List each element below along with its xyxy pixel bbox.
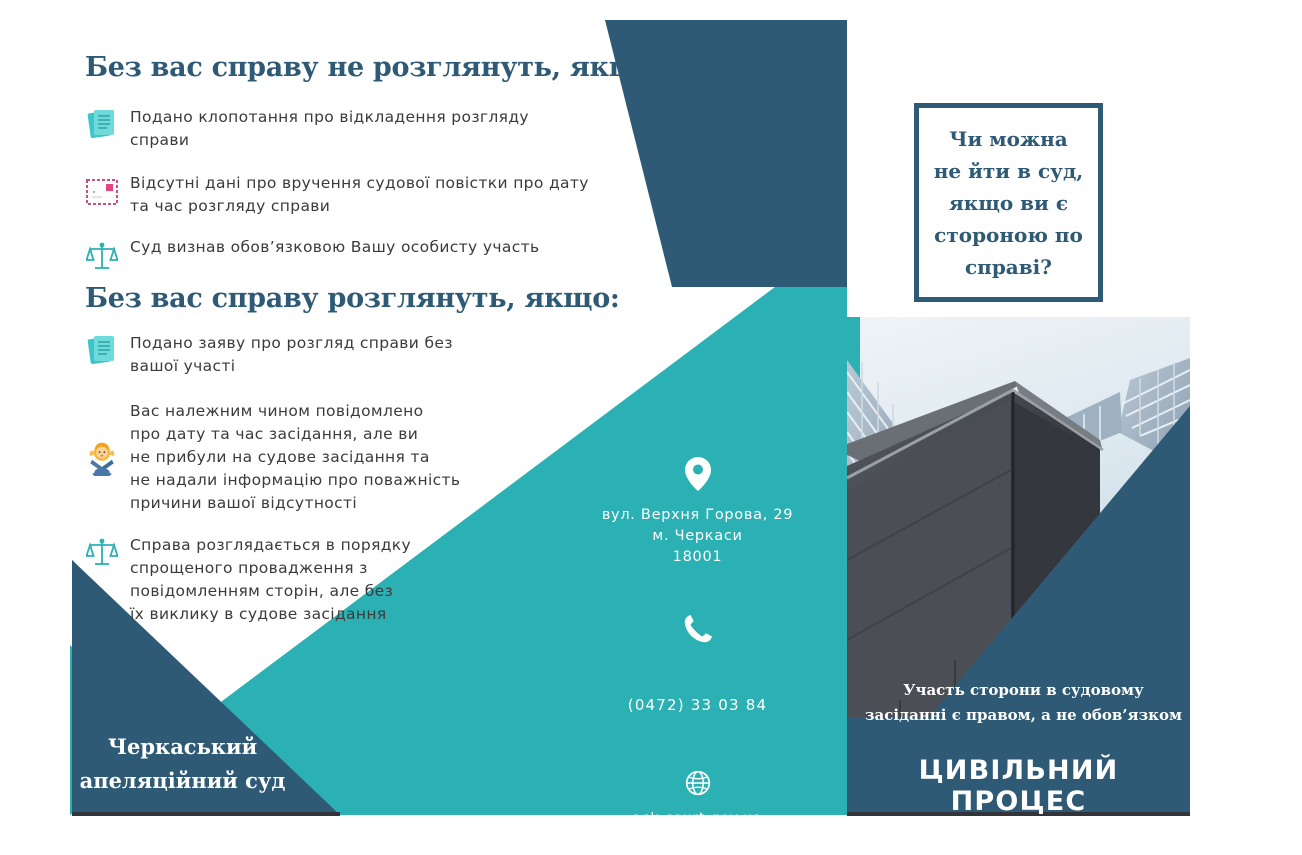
scales-icon <box>84 534 120 576</box>
question-box: Чи можна не йти в суд, якщо ви є стороно… <box>914 103 1103 302</box>
phone-number: (0472) 33 03 84 <box>575 696 820 714</box>
list-item: Суд визнав обов’язковою Вашу особисту уч… <box>84 236 539 276</box>
list-item-text: Справа розглядається в порядку спрощеног… <box>130 534 411 626</box>
list-item: Подано клопотання про відкладення розгля… <box>84 106 529 152</box>
envelope-icon <box>84 172 120 212</box>
address-line-1: вул. Верхня Горова, 29 <box>575 505 820 526</box>
person-gesturing-no-icon <box>84 438 120 478</box>
court-name-line-1: Черкаський <box>60 730 305 764</box>
left-panel: Без вас справу не розглянуть, якщо: Пода… <box>0 0 610 855</box>
list-item-text: Вас належним чином повідомлено про дату … <box>130 400 460 515</box>
tagline-line-1: Участь сторони в судовому <box>857 678 1190 703</box>
section-1-heading: Без вас справу не розглянуть, якщо: <box>85 52 665 83</box>
question-line-1: Чи можна <box>934 123 1083 155</box>
tagline-line-2: засіданні є правом, а не обов’язком <box>857 703 1190 728</box>
question-line-3: якщо ви є <box>934 187 1083 219</box>
list-item: Справа розглядається в порядку спрощеног… <box>84 534 411 626</box>
section-2-heading: Без вас справу розглянуть, якщо: <box>85 283 620 314</box>
brochure-canvas: Без вас справу не розглянуть, якщо: Пода… <box>0 0 1302 855</box>
brochure-title: ЦИВІЛЬНИЙ ПРОЦЕС <box>847 755 1190 815</box>
question-line-2: не йти в суд, <box>934 155 1083 187</box>
question-line-4: стороною по <box>934 219 1083 251</box>
list-item: Відсутні дані про вручення судової повіс… <box>84 172 589 218</box>
globe-icon <box>575 770 820 800</box>
address-line-3: 18001 <box>575 547 820 568</box>
address-line-2: м. Черкаси <box>575 526 820 547</box>
list-item: Вас належним чином повідомлено про дату … <box>84 400 460 515</box>
question-line-5: справі? <box>934 251 1083 283</box>
documents-icon <box>84 332 120 374</box>
court-name-line-2: апеляційний суд <box>60 764 305 798</box>
documents-icon <box>84 106 120 148</box>
contact-block: вул. Верхня Горова, 29 м. Черкаси 18001 … <box>575 455 820 826</box>
address: вул. Верхня Горова, 29 м. Черкаси 18001 <box>575 505 820 568</box>
list-item-text: Відсутні дані про вручення судової повіс… <box>130 172 589 218</box>
tagline: Участь сторони в судовому засіданні є пр… <box>857 678 1190 728</box>
list-item: Подано заяву про розгляд справи без вашо… <box>84 332 453 378</box>
question-text: Чи можна не йти в суд, якщо ви є стороно… <box>934 123 1083 283</box>
scales-icon <box>84 236 120 276</box>
right-panel: Чи можна не йти в суд, якщо ви є стороно… <box>847 0 1190 815</box>
court-name: Черкаський апеляційний суд <box>60 730 305 798</box>
list-item-text: Подано клопотання про відкладення розгля… <box>130 106 529 152</box>
list-item-text: Подано заяву про розгляд справи без вашо… <box>130 332 453 378</box>
phone-icon <box>575 612 820 650</box>
list-item-text: Суд визнав обов’язковою Вашу особисту уч… <box>130 236 539 259</box>
website-url[interactable]: ack.court.gov.ua <box>575 810 820 826</box>
map-pin-icon <box>575 455 820 497</box>
